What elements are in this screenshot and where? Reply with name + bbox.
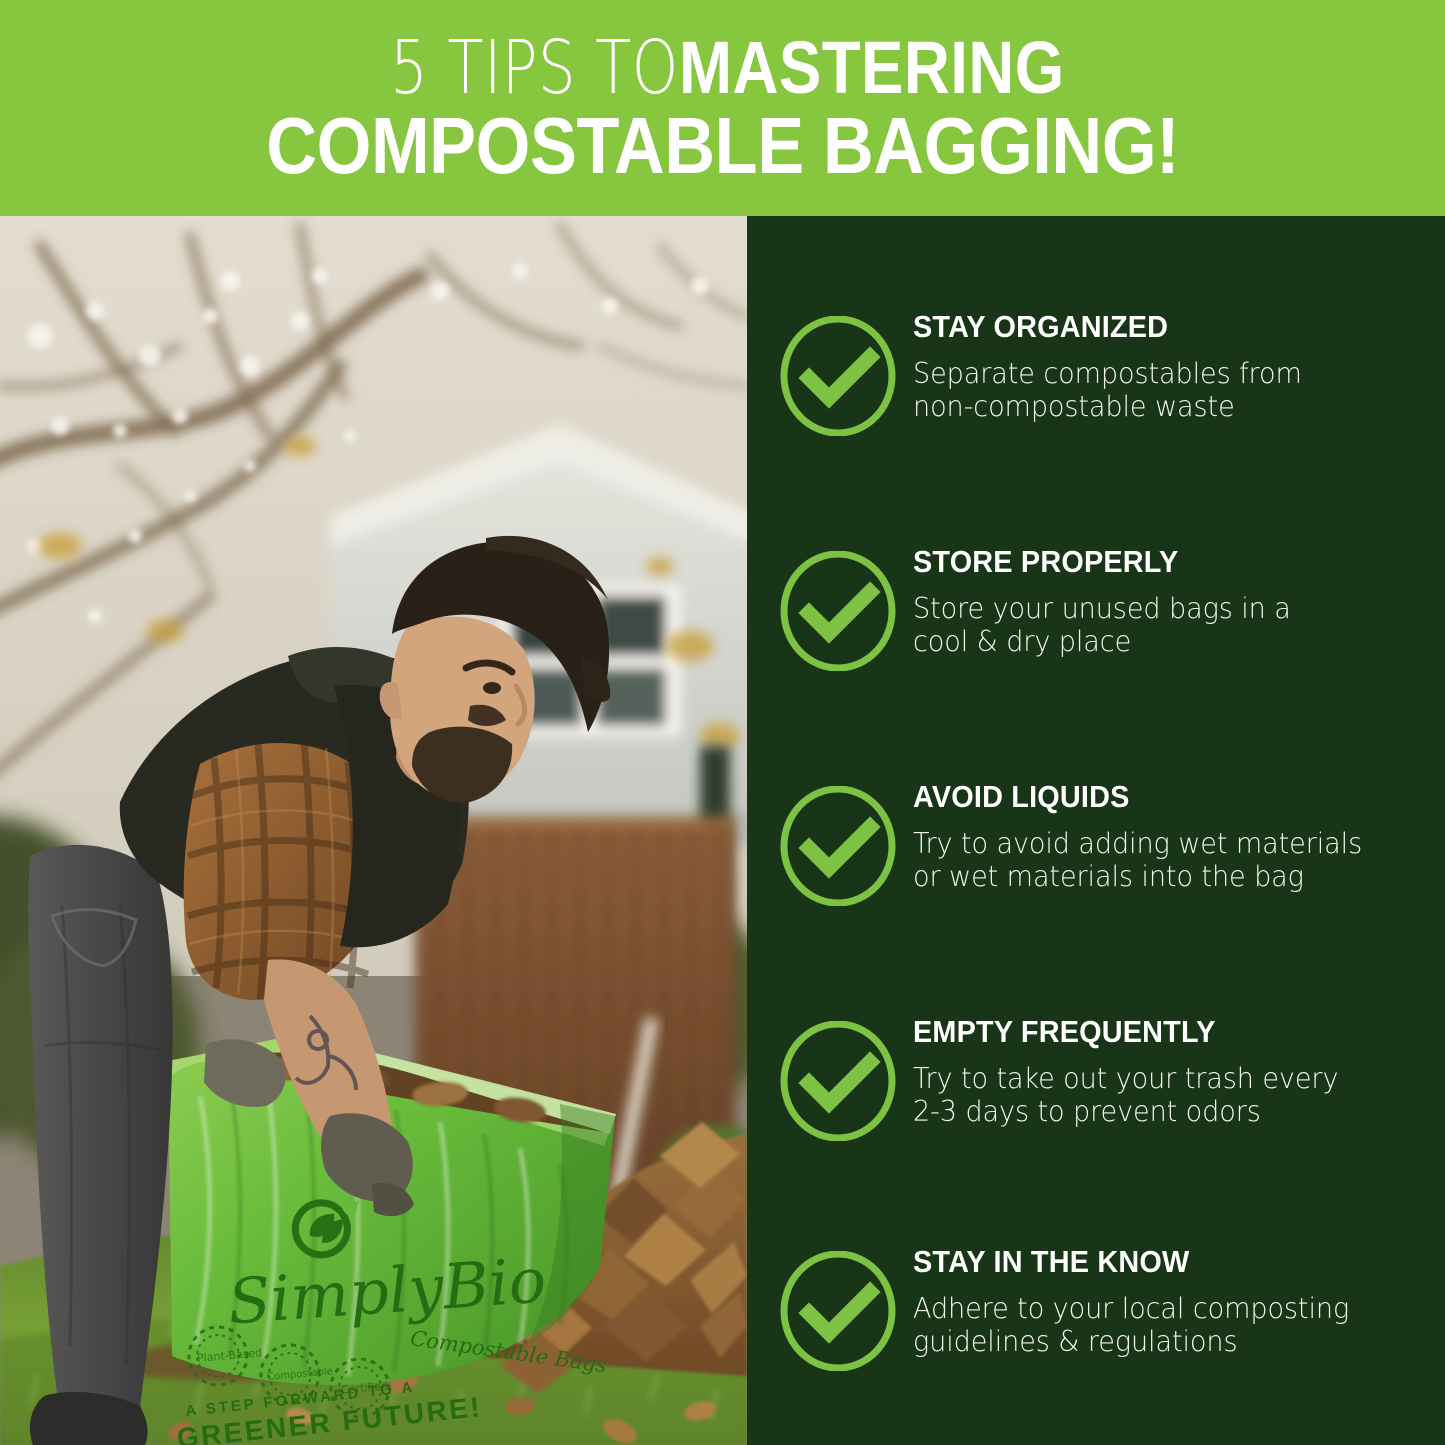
check-circle-icon: [778, 786, 898, 906]
tip-body-1: STAY ORGANIZED Separate compostables fro…: [913, 311, 1433, 423]
tip-title-3: AVOID LIQUIDS: [913, 781, 1397, 812]
hero-photo: SimplyBio Compostable Bags Plant-Based C…: [0, 216, 747, 1445]
title-bold-part: MASTERING: [679, 32, 1065, 103]
tips-panel: STAY ORGANIZED Separate compostables fro…: [747, 216, 1445, 1445]
tip-description-1: Separate compostables from non-compostab…: [913, 357, 1407, 423]
tip-desc-line-1: Separate compostables from: [913, 357, 1302, 390]
tip-item-4: EMPTY FREQUENTLY Try to take out your tr…: [747, 1026, 1445, 1186]
tip-item-1: STAY ORGANIZED Separate compostables fro…: [747, 321, 1445, 481]
check-circle-icon: [778, 1021, 898, 1141]
tip-body-4: EMPTY FREQUENTLY Try to take out your tr…: [913, 1016, 1433, 1128]
title-light-part: 5 TIPS TO: [390, 33, 679, 104]
infographic-root: 5 TIPS TOMASTERING COMPOSTABLE BAGGING!: [0, 0, 1445, 1445]
tip-desc-line-2: cool & dry place: [913, 625, 1131, 658]
tip-title-5: STAY IN THE KNOW: [913, 1246, 1397, 1277]
tip-title-2: STORE PROPERLY: [913, 546, 1397, 577]
check-circle-icon: [778, 551, 898, 671]
title-line-2-text: COMPOSTABLE BAGGING!: [266, 108, 1179, 185]
tip-desc-line-2: or wet materials into the bag: [913, 860, 1304, 893]
tip-title-4: EMPTY FREQUENTLY: [913, 1016, 1397, 1047]
tip-desc-line-1: Store your unused bags in a: [913, 592, 1291, 625]
tip-title-1: STAY ORGANIZED: [913, 311, 1397, 342]
header-banner: 5 TIPS TOMASTERING COMPOSTABLE BAGGING!: [0, 0, 1445, 216]
tip-item-5: STAY IN THE KNOW Adhere to your local co…: [747, 1256, 1445, 1416]
page-title-line-2: COMPOSTABLE BAGGING!: [204, 108, 1241, 185]
tip-description-3: Try to avoid adding wet materials or wet…: [913, 827, 1407, 893]
page-title-line-1: 5 TIPS TOMASTERING: [318, 32, 1127, 104]
photo-illustration: SimplyBio Compostable Bags Plant-Based C…: [0, 216, 747, 1445]
tip-body-3: AVOID LIQUIDS Try to avoid adding wet ma…: [913, 781, 1433, 893]
tip-desc-line-1: Try to avoid adding wet materials: [913, 827, 1362, 860]
tip-description-4: Try to take out your trash every 2-3 day…: [913, 1062, 1407, 1128]
check-circle-icon: [778, 316, 898, 436]
tip-desc-line-1: Try to take out your trash every: [913, 1062, 1338, 1095]
tip-desc-line-1: Adhere to your local composting: [913, 1292, 1349, 1325]
tip-description-2: Store your unused bags in a cool & dry p…: [913, 592, 1407, 658]
tip-item-3: AVOID LIQUIDS Try to avoid adding wet ma…: [747, 791, 1445, 951]
check-circle-icon: [778, 1251, 898, 1371]
tip-desc-line-2: 2-3 days to prevent odors: [913, 1095, 1261, 1128]
tip-body-2: STORE PROPERLY Store your unused bags in…: [913, 546, 1433, 658]
photo-warm-tint: [0, 216, 747, 1445]
tip-desc-line-2: guidelines & regulations: [913, 1325, 1237, 1358]
tip-desc-line-2: non-compostable waste: [913, 390, 1235, 423]
tip-item-2: STORE PROPERLY Store your unused bags in…: [747, 556, 1445, 716]
tip-description-5: Adhere to your local composting guidelin…: [913, 1292, 1407, 1358]
tip-body-5: STAY IN THE KNOW Adhere to your local co…: [913, 1246, 1433, 1358]
